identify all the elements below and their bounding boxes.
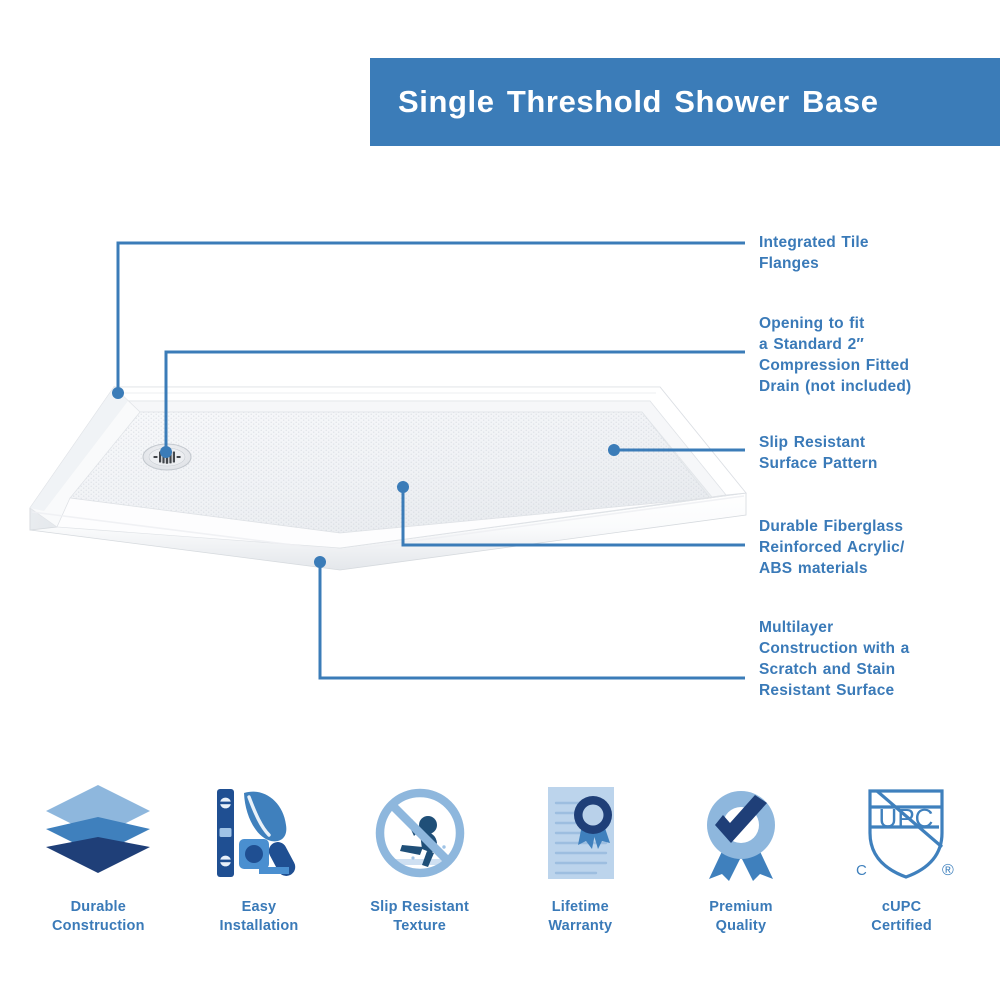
callout-label-slip-resistant-surface: Slip Resistant Surface Pattern <box>759 432 999 474</box>
callout-label-multilayer-construction: Multilayer Construction with a Scratch a… <box>759 617 1000 701</box>
stacked-layers-icon <box>42 778 154 888</box>
certificate-seal-icon <box>524 778 636 888</box>
upc-shield-prefix: C <box>856 862 867 879</box>
feature-label-slip-resistant-texture: Slip Resistant Texture <box>370 898 469 936</box>
feature-label-durable-construction: Durable Construction <box>52 898 145 936</box>
feature-item-easy-installation: Easy Installation <box>184 778 334 936</box>
no-slip-warning-icon <box>364 778 476 888</box>
tools-level-trowel-tape-icon <box>203 778 315 888</box>
feature-label-easy-installation: Easy Installation <box>220 898 299 936</box>
feature-item-durable-construction: Durable Construction <box>23 778 173 936</box>
feature-item-cupc-certified: UPC C ® cUPC Certified <box>827 778 977 936</box>
feature-label-premium-quality: Premium Quality <box>709 898 772 936</box>
upc-shield-registered: ® <box>942 862 954 879</box>
callout-label-drain-opening: Opening to fit a Standard 2″ Compression… <box>759 313 1000 397</box>
feature-item-premium-quality: Premium Quality <box>666 778 816 936</box>
drain-grate <box>143 444 191 470</box>
feature-label-lifetime-warranty: Lifetime Warranty <box>548 898 612 936</box>
shower-base-illustration <box>10 365 750 605</box>
callout-label-integrated-tile-flanges: Integrated Tile Flanges <box>759 232 999 274</box>
callout-label-durable-materials: Durable Fiberglass Reinforced Acrylic/ A… <box>759 516 1000 579</box>
header-banner: Single Threshold Shower Base <box>370 58 1000 146</box>
award-ribbon-check-icon <box>685 778 797 888</box>
page-title: Single Threshold Shower Base <box>370 84 879 120</box>
feature-item-lifetime-warranty: Lifetime Warranty <box>505 778 655 936</box>
upc-shield-title: UPC <box>878 803 933 833</box>
feature-item-slip-resistant-texture: Slip Resistant Texture <box>345 778 495 936</box>
upc-shield-icon: UPC C ® <box>846 778 958 888</box>
feature-badges-row: Durable Construction <box>0 778 1000 968</box>
feature-label-cupc-certified: cUPC Certified <box>871 898 932 936</box>
